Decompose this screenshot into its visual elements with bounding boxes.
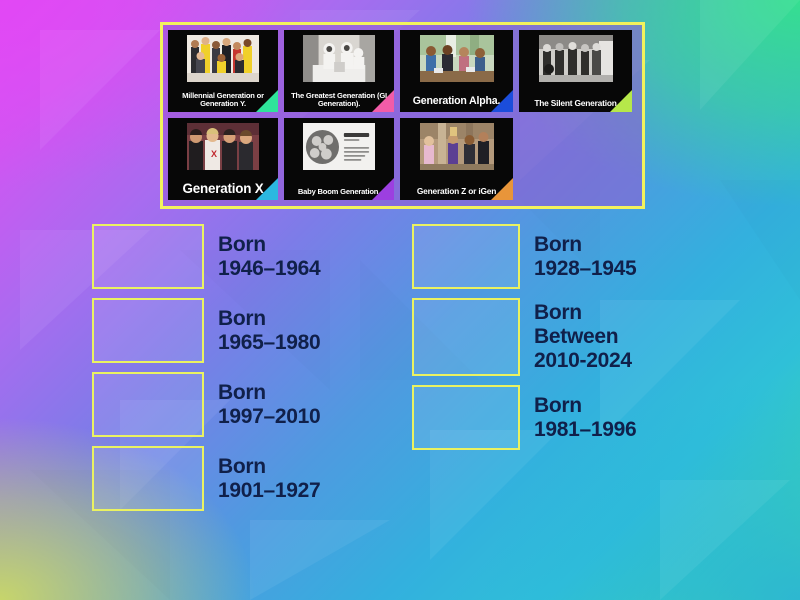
answer-row: Born 1901–1927 — [92, 446, 392, 511]
svg-text:X: X — [211, 149, 217, 159]
tile-corner-flag-icon — [372, 90, 394, 112]
answer-label: Born 1928–1945 — [534, 233, 636, 280]
teens-on-steps-photo — [420, 123, 494, 170]
draggable-tiles-tray[interactable]: Millennial Generation or Generation Y. — [160, 22, 645, 209]
tile-greatest-generation[interactable]: The Greatest Generation (GI Generation). — [284, 30, 394, 112]
group-of-young-adults-photo — [187, 35, 259, 82]
tile-corner-flag-icon — [256, 178, 278, 200]
answer-label: Born 1901–1927 — [218, 455, 320, 502]
tile-corner-flag-icon — [372, 178, 394, 200]
tile-row: X Generation X — [168, 118, 637, 200]
tile-silent-generation[interactable]: The Silent Generation — [519, 30, 632, 112]
answer-row: Born 1928–1945 — [412, 224, 732, 289]
tile-generation-x[interactable]: X Generation X — [168, 118, 278, 200]
answer-row: Born Between 2010-2024 — [412, 298, 732, 376]
tile-corner-flag-icon — [610, 90, 632, 112]
tile-baby-boom-generation[interactable]: Baby Boom Generation. — [284, 118, 394, 200]
answer-label: Born Between 2010-2024 — [534, 301, 632, 373]
answer-row: Born 1997–2010 — [92, 372, 392, 437]
drop-slot-born-1928-1945[interactable] — [412, 224, 520, 289]
answer-row: Born 1946–1964 — [92, 224, 392, 289]
drop-slot-born-1901-1927[interactable] — [92, 446, 204, 511]
vintage-family-kitchen-photo — [303, 35, 375, 82]
tile-millennial-generation[interactable]: Millennial Generation or Generation Y. — [168, 30, 278, 112]
tile-row: Millennial Generation or Generation Y. — [168, 30, 637, 112]
baby-boomer-infocard-photo — [303, 123, 375, 170]
answer-label: Born 1997–2010 — [218, 381, 320, 428]
answer-label: Born 1965–1980 — [218, 307, 320, 354]
answer-label: Born 1981–1996 — [534, 394, 636, 441]
tile-generation-alpha[interactable]: Generation Alpha. — [400, 30, 513, 112]
1980s-rock-band-photo: X — [187, 123, 259, 170]
tile-corner-flag-icon — [491, 90, 513, 112]
children-at-desk-with-tablets-photo — [420, 35, 494, 82]
drop-slot-born-1946-1964[interactable] — [92, 224, 204, 289]
1940s-crowd-walking-photo — [539, 35, 613, 82]
answer-column-left: Born 1946–1964 Born 1965–1980 Born 1997–… — [92, 224, 392, 520]
drop-slot-born-between-2010-2024[interactable] — [412, 298, 520, 376]
answer-column-right: Born 1928–1945 Born Between 2010-2024 Bo… — [412, 224, 732, 459]
drop-slot-born-1965-1980[interactable] — [92, 298, 204, 363]
tile-corner-flag-icon — [491, 178, 513, 200]
answer-row: Born 1981–1996 — [412, 385, 732, 450]
answer-row: Born 1965–1980 — [92, 298, 392, 363]
drop-slot-born-1997-2010[interactable] — [92, 372, 204, 437]
tile-generation-z[interactable]: Generation Z or iGen — [400, 118, 513, 200]
answer-label: Born 1946–1964 — [218, 233, 320, 280]
drop-slot-born-1981-1996[interactable] — [412, 385, 520, 450]
activity-canvas: Millennial Generation or Generation Y. — [0, 0, 800, 600]
tile-corner-flag-icon — [256, 90, 278, 112]
